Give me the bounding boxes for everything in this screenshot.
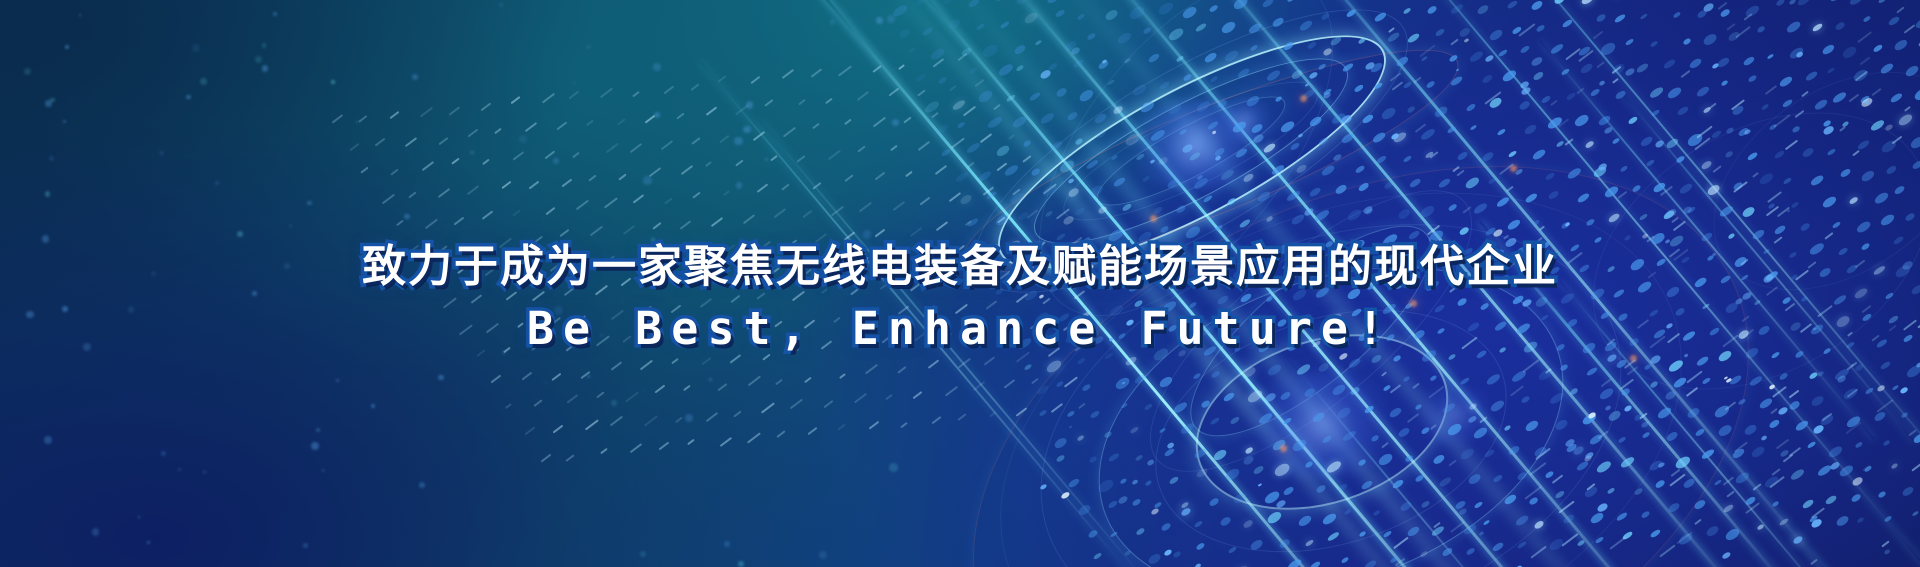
hero-banner: 致力于成为一家聚焦无线电装备及赋能场景应用的现代企业 Be Best, Enha… xyxy=(0,0,1920,567)
tick-dash-field xyxy=(0,0,1920,567)
